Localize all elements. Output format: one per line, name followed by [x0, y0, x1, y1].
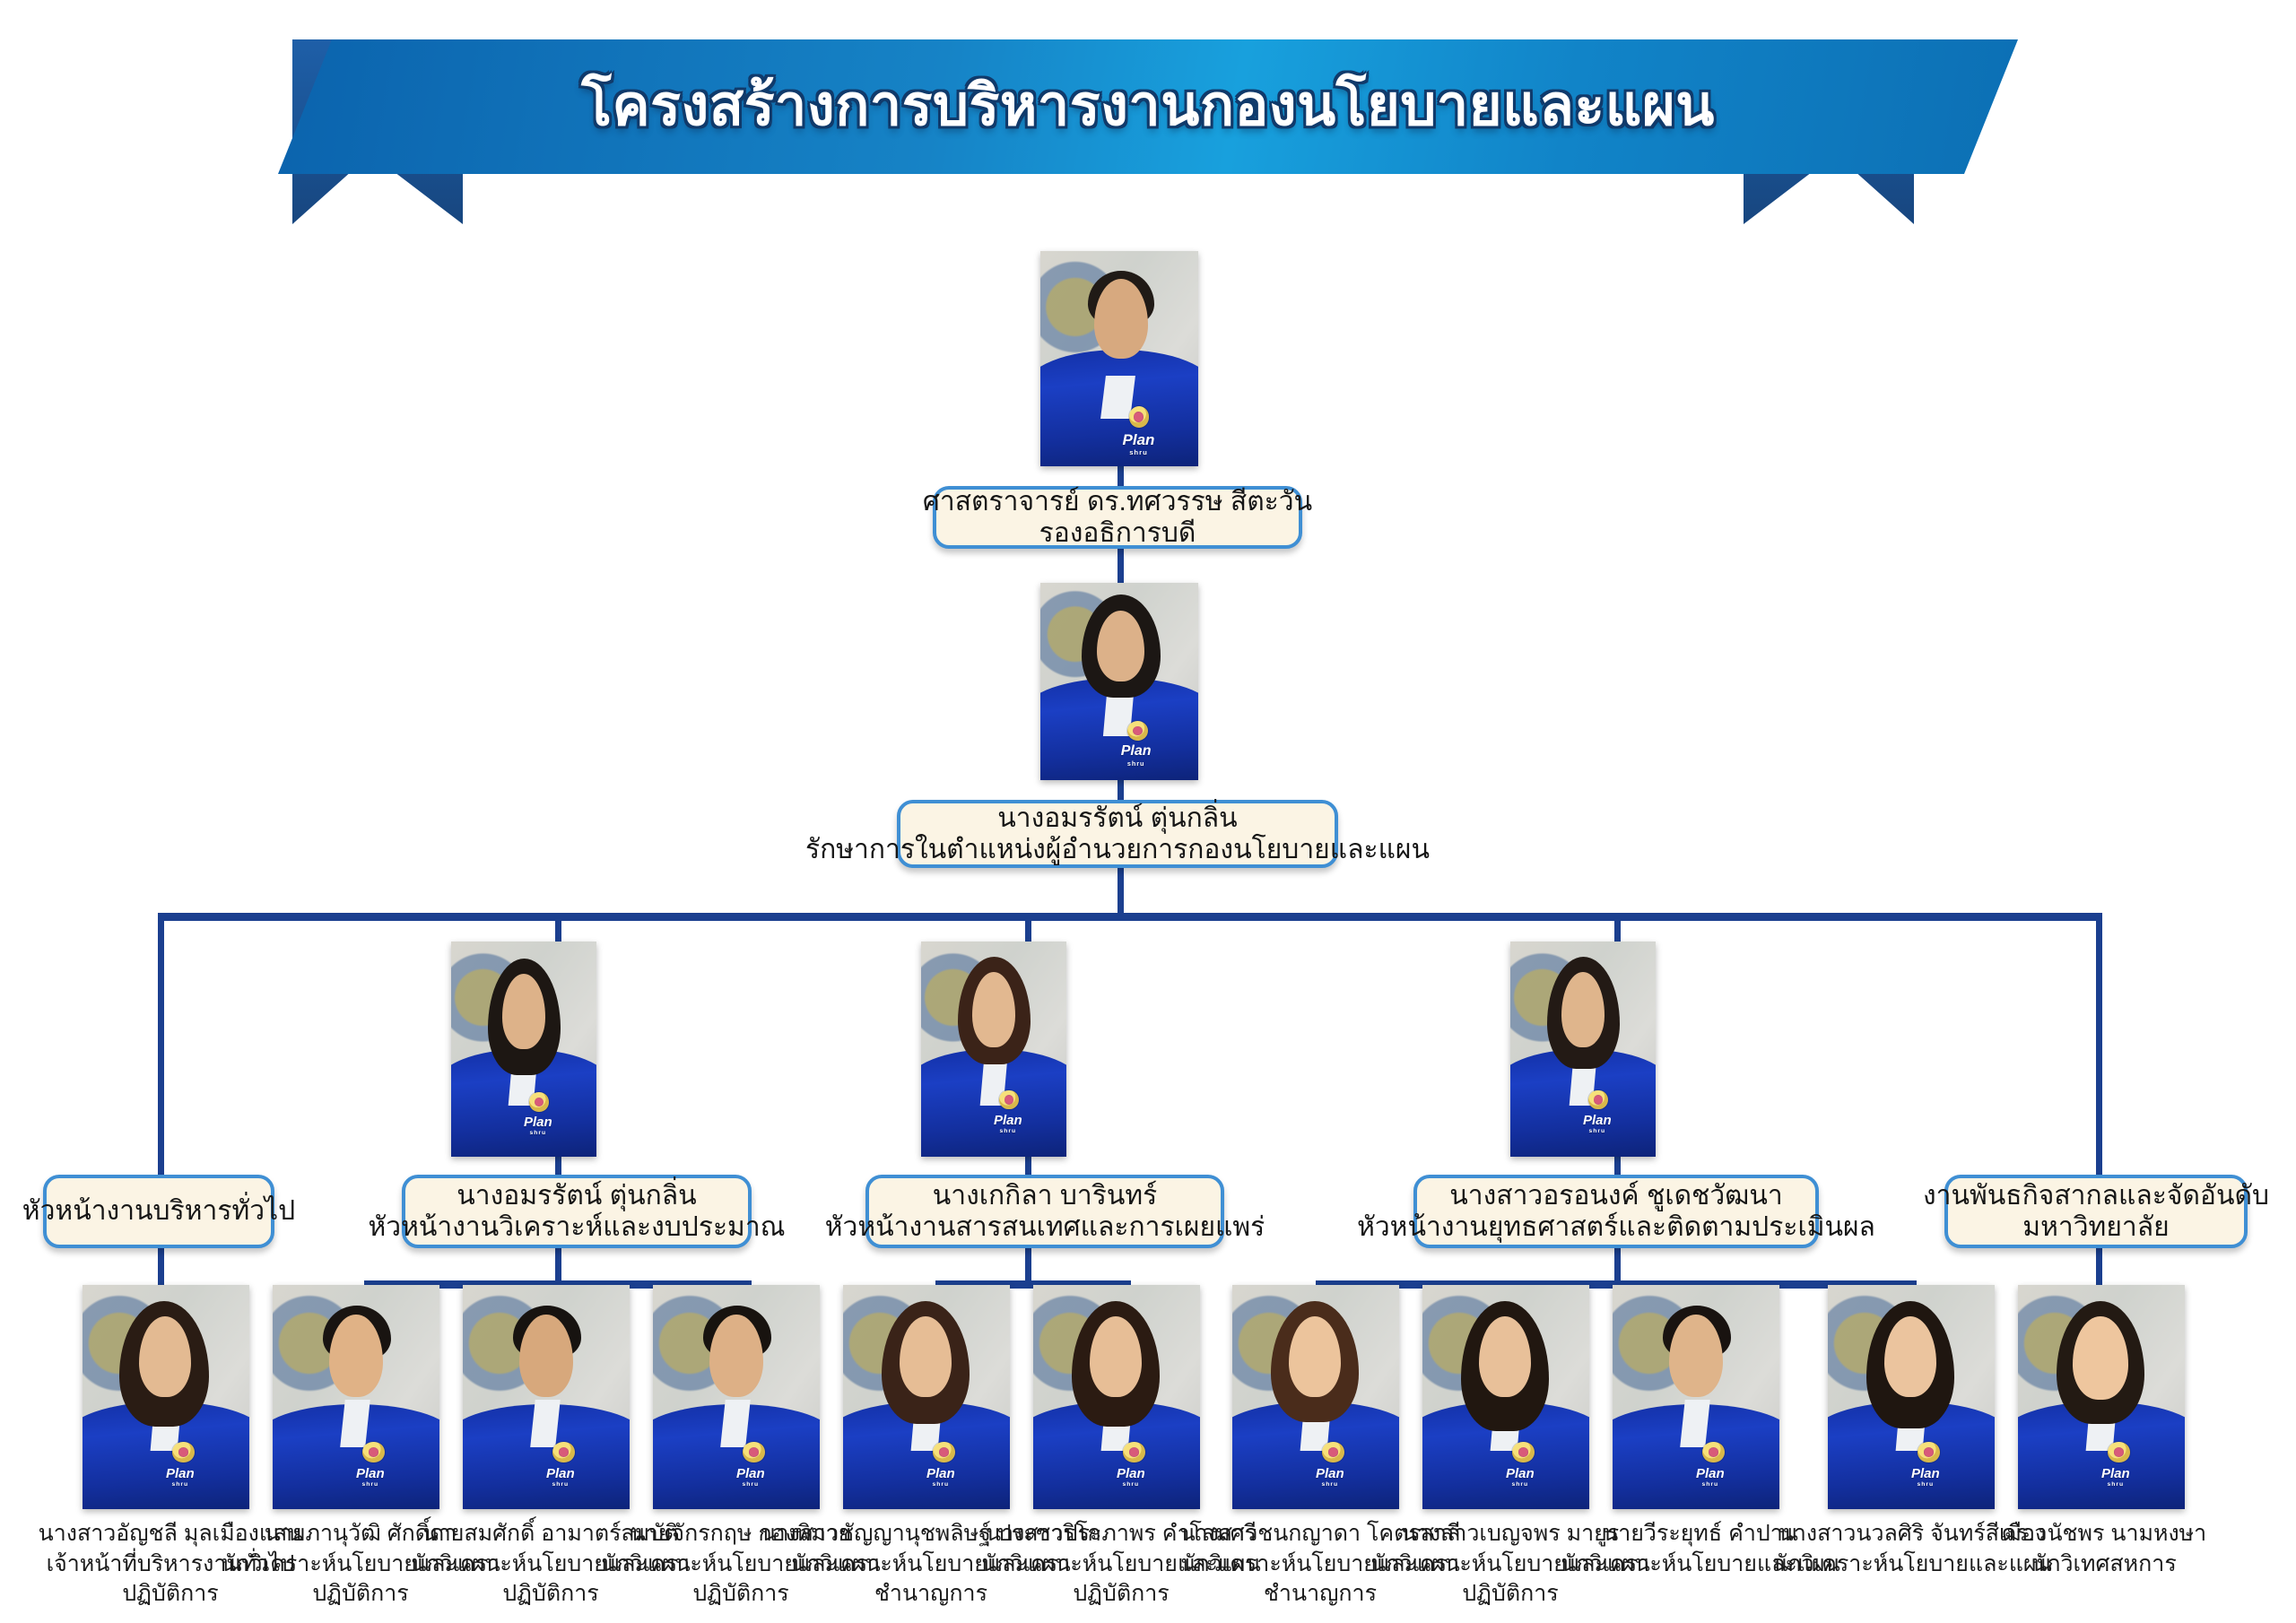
page-title: โครงสร้างการบริหารงานกองนโยบายและแผน: [581, 60, 1715, 153]
node-level3-5[interactable]: งานพันธกิจสากลและจัดอันดับ มหาวิทยาลัย: [1944, 1175, 2248, 1248]
portrait-staff-10: Planshru: [1828, 1285, 1995, 1509]
connector-l2-bus: [1118, 868, 1124, 916]
portrait-staff-1: Planshru: [83, 1285, 249, 1509]
node-level3-2-title: หัวหน้างานวิเคราะห์และงบประมาณ: [369, 1211, 786, 1243]
connector-l1-l2: [1118, 549, 1124, 583]
node-level3-3-title: หัวหน้างานสารสนเทศและการเผยแพร่: [825, 1211, 1265, 1243]
portrait-staff-4: Planshru: [653, 1285, 820, 1509]
node-level3-3[interactable]: นางเกกิลา บารินทร์ หัวหน้างานสารสนเทศและ…: [865, 1175, 1224, 1248]
connector-branch4-drop: [1614, 1248, 1621, 1284]
node-level2-title: รักษาการในตำแหน่งผู้อำนวยการกองนโยบายและ…: [805, 834, 1430, 865]
portrait-head-analysis-budget: Planshru: [451, 942, 596, 1157]
node-level1[interactable]: ศาสตราจารย์ ดร.ทศวรรษ สีตะวัน รองอธิการบ…: [933, 486, 1302, 549]
portrait-head-information: Planshru: [921, 942, 1066, 1157]
portrait-staff-7: Planshru: [1232, 1285, 1399, 1509]
node-level1-name: ศาสตราจารย์ ดร.ทศวรรษ สีตะวัน: [923, 486, 1312, 517]
connector-l2-photo-box: [1118, 780, 1124, 800]
caption-staff-8-level: ปฏิบัติการ: [1322, 1579, 1699, 1610]
node-level3-1[interactable]: หัวหน้างานบริหารทั่วไป: [43, 1175, 274, 1248]
node-level3-4-title: หัวหน้างานยุทธศาสตร์และติดตามประเมินผล: [1357, 1211, 1875, 1243]
portrait-staff-5: Planshru: [843, 1285, 1010, 1509]
node-level3-5-title: มหาวิทยาลัย: [2022, 1211, 2169, 1243]
main-horizontal-bus: [158, 913, 2102, 921]
caption-staff-11-name: ดร.วนัชพร นามหงษา: [1916, 1519, 2292, 1549]
portrait-vice-president: Planshru: [1040, 251, 1198, 466]
portrait-staff-9: Planshru: [1613, 1285, 1779, 1509]
portrait-staff-6: Planshru: [1033, 1285, 1200, 1509]
portrait-staff-11: Planshru: [2018, 1285, 2185, 1509]
node-level3-4[interactable]: นางสาวอรอนงค์ ชูเดชวัฒนา หัวหน้างานยุทธศ…: [1413, 1175, 1819, 1248]
node-level2[interactable]: นางอมรรัตน์ ตุ่นกลิ่น รักษาการในตำแหน่งผ…: [897, 800, 1338, 868]
node-level3-5-name: งานพันธกิจสากลและจัดอันดับ: [1923, 1180, 2269, 1211]
node-level1-title: รองอธิการบดี: [1039, 517, 1196, 549]
connector-branch3-drop: [1025, 1248, 1031, 1284]
portrait-staff-2: Planshru: [273, 1285, 439, 1509]
caption-staff-11: ดร.วนัชพร นามหงษา นักวิเทศสหการ: [1916, 1519, 2292, 1579]
node-level3-1-title: หัวหน้างานบริหารทั่วไป: [22, 1195, 295, 1227]
node-level3-2[interactable]: นางอมรรัตน์ ตุ่นกลิ่น หัวหน้างานวิเคราะห…: [402, 1175, 752, 1248]
node-level3-2-name: นางอมรรัตน์ ตุ่นกลิ่น: [457, 1180, 696, 1211]
org-chart-canvas: โครงสร้างการบริหารงานกองนโยบายและแผน: [0, 0, 2296, 1623]
node-level3-4-name: นางสาวอรอนงค์ ชูเดชวัฒนา: [1449, 1180, 1782, 1211]
portrait-acting-director: Planshru: [1040, 583, 1198, 780]
connector-bus-branch-5: [2096, 916, 2102, 1175]
node-level2-name: นางอมรรัตน์ ตุ่นกลิ่น: [997, 803, 1237, 834]
connector-branch2-drop: [555, 1248, 561, 1284]
portrait-staff-3: Planshru: [463, 1285, 630, 1509]
connector-l1-photo-box: [1118, 466, 1124, 486]
portrait-head-strategy: Planshru: [1510, 942, 1656, 1157]
connector-bus-branch-1: [158, 916, 164, 1175]
header-ribbon: โครงสร้างการบริหารงานกองนโยบายและแผน: [0, 39, 2296, 174]
caption-staff-11-position: นักวิเทศสหการ: [1916, 1549, 2292, 1580]
node-level3-3-name: นางเกกิลา บารินทร์: [933, 1180, 1158, 1211]
portrait-staff-8: Planshru: [1422, 1285, 1589, 1509]
ribbon-banner: โครงสร้างการบริหารงานกองนโยบายและแผน: [278, 39, 2018, 174]
